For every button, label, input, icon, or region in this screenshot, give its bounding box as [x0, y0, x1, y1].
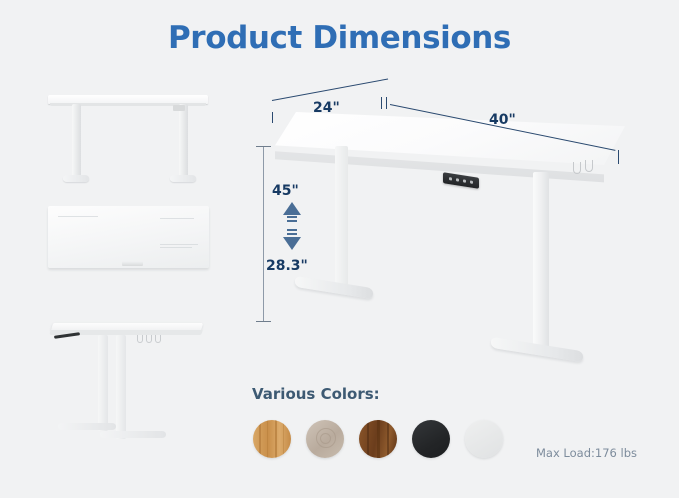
desktop-surface: [48, 206, 209, 268]
desk-foot-right: [170, 175, 196, 182]
arrow-up-icon: [283, 202, 301, 215]
accessory-hook-right: [585, 160, 593, 172]
desk-leg-near: [533, 172, 549, 348]
desk-top-front: [48, 95, 208, 104]
desk-leg-right: [179, 104, 188, 177]
thumbnail-front-view: [40, 85, 220, 190]
desk-column-front: [98, 335, 108, 431]
arrow-up-stem-2: [287, 220, 297, 222]
page-title: Product Dimensions: [0, 20, 679, 56]
thumbnail-angle-view: [40, 315, 220, 455]
desk-leg-far: [335, 146, 348, 286]
color-swatch-white[interactable]: [465, 420, 503, 458]
height-cap-bottom: [256, 321, 271, 322]
arrow-up-stem-1: [287, 216, 297, 218]
desk-foot-front: [58, 423, 116, 430]
desk-column-back: [116, 335, 126, 439]
accessory-hook-left: [573, 162, 581, 174]
accessory-hook-3: [155, 335, 161, 343]
infographic-canvas: Product Dimensions: [0, 0, 679, 498]
height-max-label: 45": [272, 183, 299, 199]
desk-foot-back: [100, 431, 166, 438]
control-panel-icon: [173, 105, 185, 111]
various-colors-heading: Various Colors:: [252, 385, 380, 403]
width-label: 40": [489, 112, 516, 128]
height-min-label: 28.3": [266, 258, 308, 274]
hero-desk-illustration: [275, 112, 625, 392]
max-load-text: Max Load:176 lbs: [536, 446, 637, 460]
color-swatch-black[interactable]: [412, 420, 450, 458]
height-dimension-line: [263, 146, 264, 322]
thumbnail-top-view: [40, 200, 220, 280]
arrow-down-icon: [283, 237, 301, 250]
arrow-down-stem-2: [287, 233, 297, 235]
color-swatch-light-oak[interactable]: [253, 420, 291, 458]
depth-tick-right-b: [386, 97, 387, 109]
accessory-hook-2: [146, 335, 152, 343]
accessory-hook-1: [137, 335, 143, 343]
color-swatch-greige-wood[interactable]: [306, 420, 344, 458]
desk-leg-left: [72, 104, 81, 177]
control-panel-tab: [122, 261, 143, 266]
depth-label: 24": [313, 100, 340, 116]
desk-foot-left: [63, 175, 89, 182]
width-tick-right: [618, 150, 619, 164]
depth-tick-right-a: [381, 97, 382, 109]
arrow-down-stem-1: [287, 229, 297, 231]
height-control-panel[interactable]: [443, 172, 479, 189]
desk-foot-far: [295, 276, 373, 299]
color-swatch-rustic-brown[interactable]: [359, 420, 397, 458]
depth-tick-left: [272, 112, 273, 123]
height-cap-top: [256, 146, 271, 147]
depth-dimension-line: [272, 79, 388, 101]
